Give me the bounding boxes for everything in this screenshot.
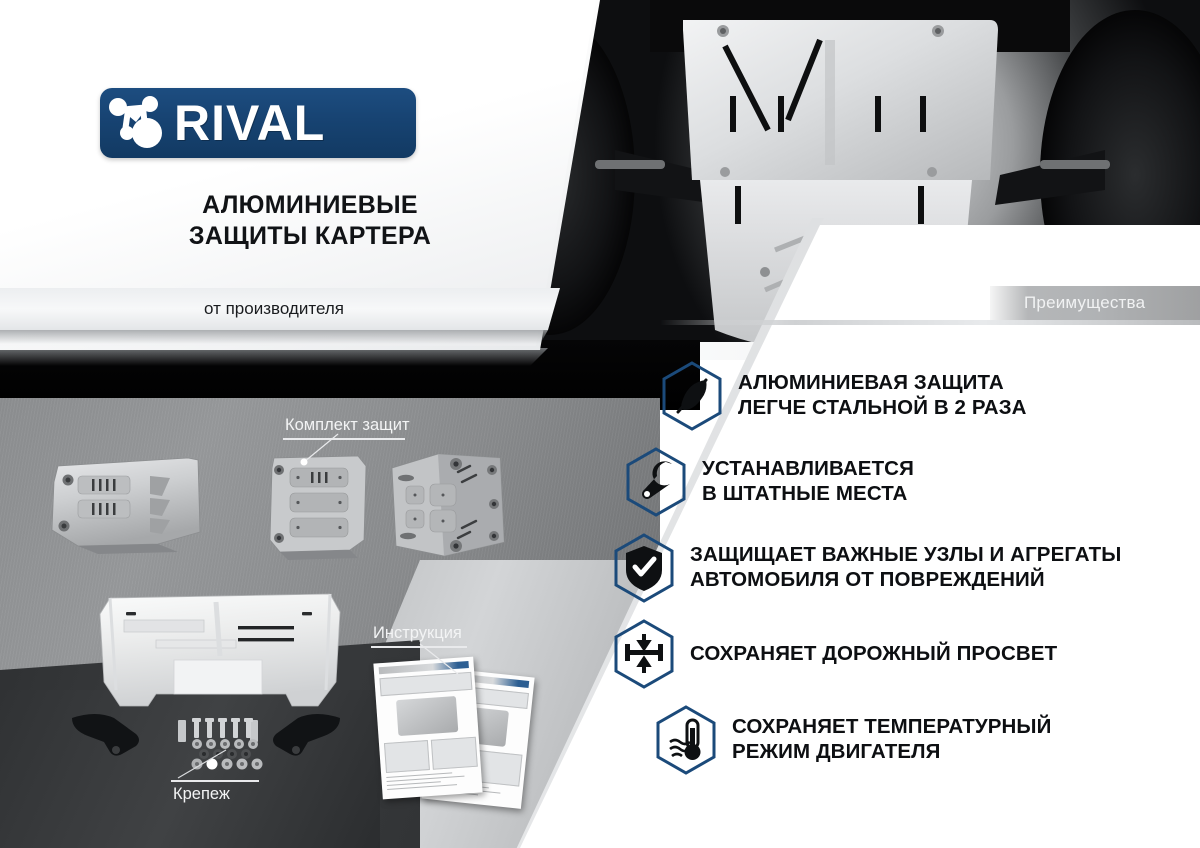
feather-icon (660, 360, 724, 432)
rival-logo[interactable]: RIVAL (100, 88, 416, 158)
shield-check-icon (612, 532, 676, 604)
feature-aluminium-line1: АЛЮМИНИЕВАЯ ЗАЩИТА (738, 371, 1027, 396)
callout-hardware-rule (171, 780, 259, 782)
callout-kit: Комплект защит (283, 416, 412, 440)
clearance-icon (612, 618, 676, 690)
instruction-sheet-front (373, 657, 482, 800)
feature-item-fitment: УСТАНАВЛИВАЕТСЯ В ШТАТНЫЕ МЕСТА (624, 446, 1200, 518)
molecule-icon (100, 88, 174, 158)
page-title-line2: ЗАЩИТЫ КАРТЕРА (100, 221, 520, 252)
feature-temperature-line1: СОХРАНЯЕТ ТЕМПЕРАТУРНЫЙ (732, 715, 1051, 740)
feature-clearance-line1: СОХРАНЯЕТ ДОРОЖНЫЙ ПРОСВЕТ (690, 642, 1057, 667)
thermometer-icon (654, 704, 718, 776)
feature-protection-line1: ЗАЩИЩАЕТ ВАЖНЫЕ УЗЛЫ И АГРЕГАТЫ (690, 543, 1121, 568)
feature-fitment-line1: УСТАНАВЛИВАЕТСЯ (702, 457, 914, 482)
callout-leader-hardware (176, 748, 228, 780)
feature-item-temperature: СОХРАНЯЕТ ТЕМПЕРАТУРНЫЙ РЕЖИМ ДВИГАТЕЛЯ (654, 704, 1200, 776)
feature-fitment-line2: В ШТАТНЫЕ МЕСТА (702, 482, 914, 507)
rival-product-banner: Комплект защит Инструкция Крепеж (0, 0, 1200, 848)
feature-text-fitment: УСТАНАВЛИВАЕТСЯ В ШТАТНЫЕ МЕСТА (702, 457, 914, 506)
skid-plate-render-2 (262, 448, 372, 560)
advantages-badge-label: Преимущества (990, 293, 1145, 313)
feature-temperature-line2: РЕЖИМ ДВИГАТЕЛЯ (732, 740, 1051, 765)
feature-protection-line2: АВТОМОБИЛЯ ОТ ПОВРЕЖДЕНИЙ (690, 568, 1121, 593)
feature-aluminium-line2: ЛЕГЧЕ СТАЛЬНОЙ В 2 РАЗА (738, 396, 1027, 421)
feature-text-protection: ЗАЩИЩАЕТ ВАЖНЫЕ УЗЛЫ И АГРЕГАТЫ АВТОМОБИ… (690, 543, 1121, 592)
page-title-line1: АЛЮМИНИЕВЫЕ (100, 190, 520, 221)
subtitle-band-shadow (0, 330, 548, 344)
callout-kit-label: Комплект защит (283, 416, 412, 438)
callout-instruction-rule (371, 646, 467, 648)
callout-instruction-label: Инструкция (371, 624, 467, 646)
callout-kit-rule (283, 438, 405, 440)
skid-plate-render-large (86, 586, 354, 714)
header-panel-shadow (0, 348, 560, 366)
feature-item-aluminium: АЛЮМИНИЕВАЯ ЗАЩИТА ЛЕГЧЕ СТАЛЬНОЙ В 2 РА… (660, 360, 1200, 432)
feature-text-aluminium: АЛЮМИНИЕВАЯ ЗАЩИТА ЛЕГЧЕ СТАЛЬНОЙ В 2 РА… (738, 371, 1027, 420)
advantages-badge: Преимущества (990, 286, 1200, 320)
feature-text-clearance: СОХРАНЯЕТ ДОРОЖНЫЙ ПРОСВЕТ (690, 642, 1057, 667)
wrench-icon (624, 446, 688, 518)
page-title: АЛЮМИНИЕВЫЕ ЗАЩИТЫ КАРТЕРА (100, 190, 520, 253)
page-subtitle-text: от производителя (204, 299, 344, 319)
feature-text-temperature: СОХРАНЯЕТ ТЕМПЕРАТУРНЫЙ РЕЖИМ ДВИГАТЕЛЯ (732, 715, 1051, 764)
feature-item-clearance: СОХРАНЯЕТ ДОРОЖНЫЙ ПРОСВЕТ (612, 618, 1200, 690)
skid-plate-render-3 (382, 446, 510, 564)
callout-hardware-label: Крепеж (171, 785, 259, 807)
features-list: АЛЮМИНИЕВАЯ ЗАЩИТА ЛЕГЧЕ СТАЛЬНОЙ В 2 РА… (612, 360, 1200, 790)
page-subtitle: от производителя (0, 288, 548, 330)
logo-wordmark: RIVAL (174, 98, 325, 148)
skid-plate-render-1 (38, 448, 250, 560)
advantages-badge-underline (660, 320, 1200, 325)
feature-item-protection: ЗАЩИЩАЕТ ВАЖНЫЕ УЗЛЫ И АГРЕГАТЫ АВТОМОБИ… (612, 532, 1200, 604)
callout-instruction: Инструкция (371, 624, 467, 648)
callout-hardware: Крепеж (171, 780, 259, 807)
